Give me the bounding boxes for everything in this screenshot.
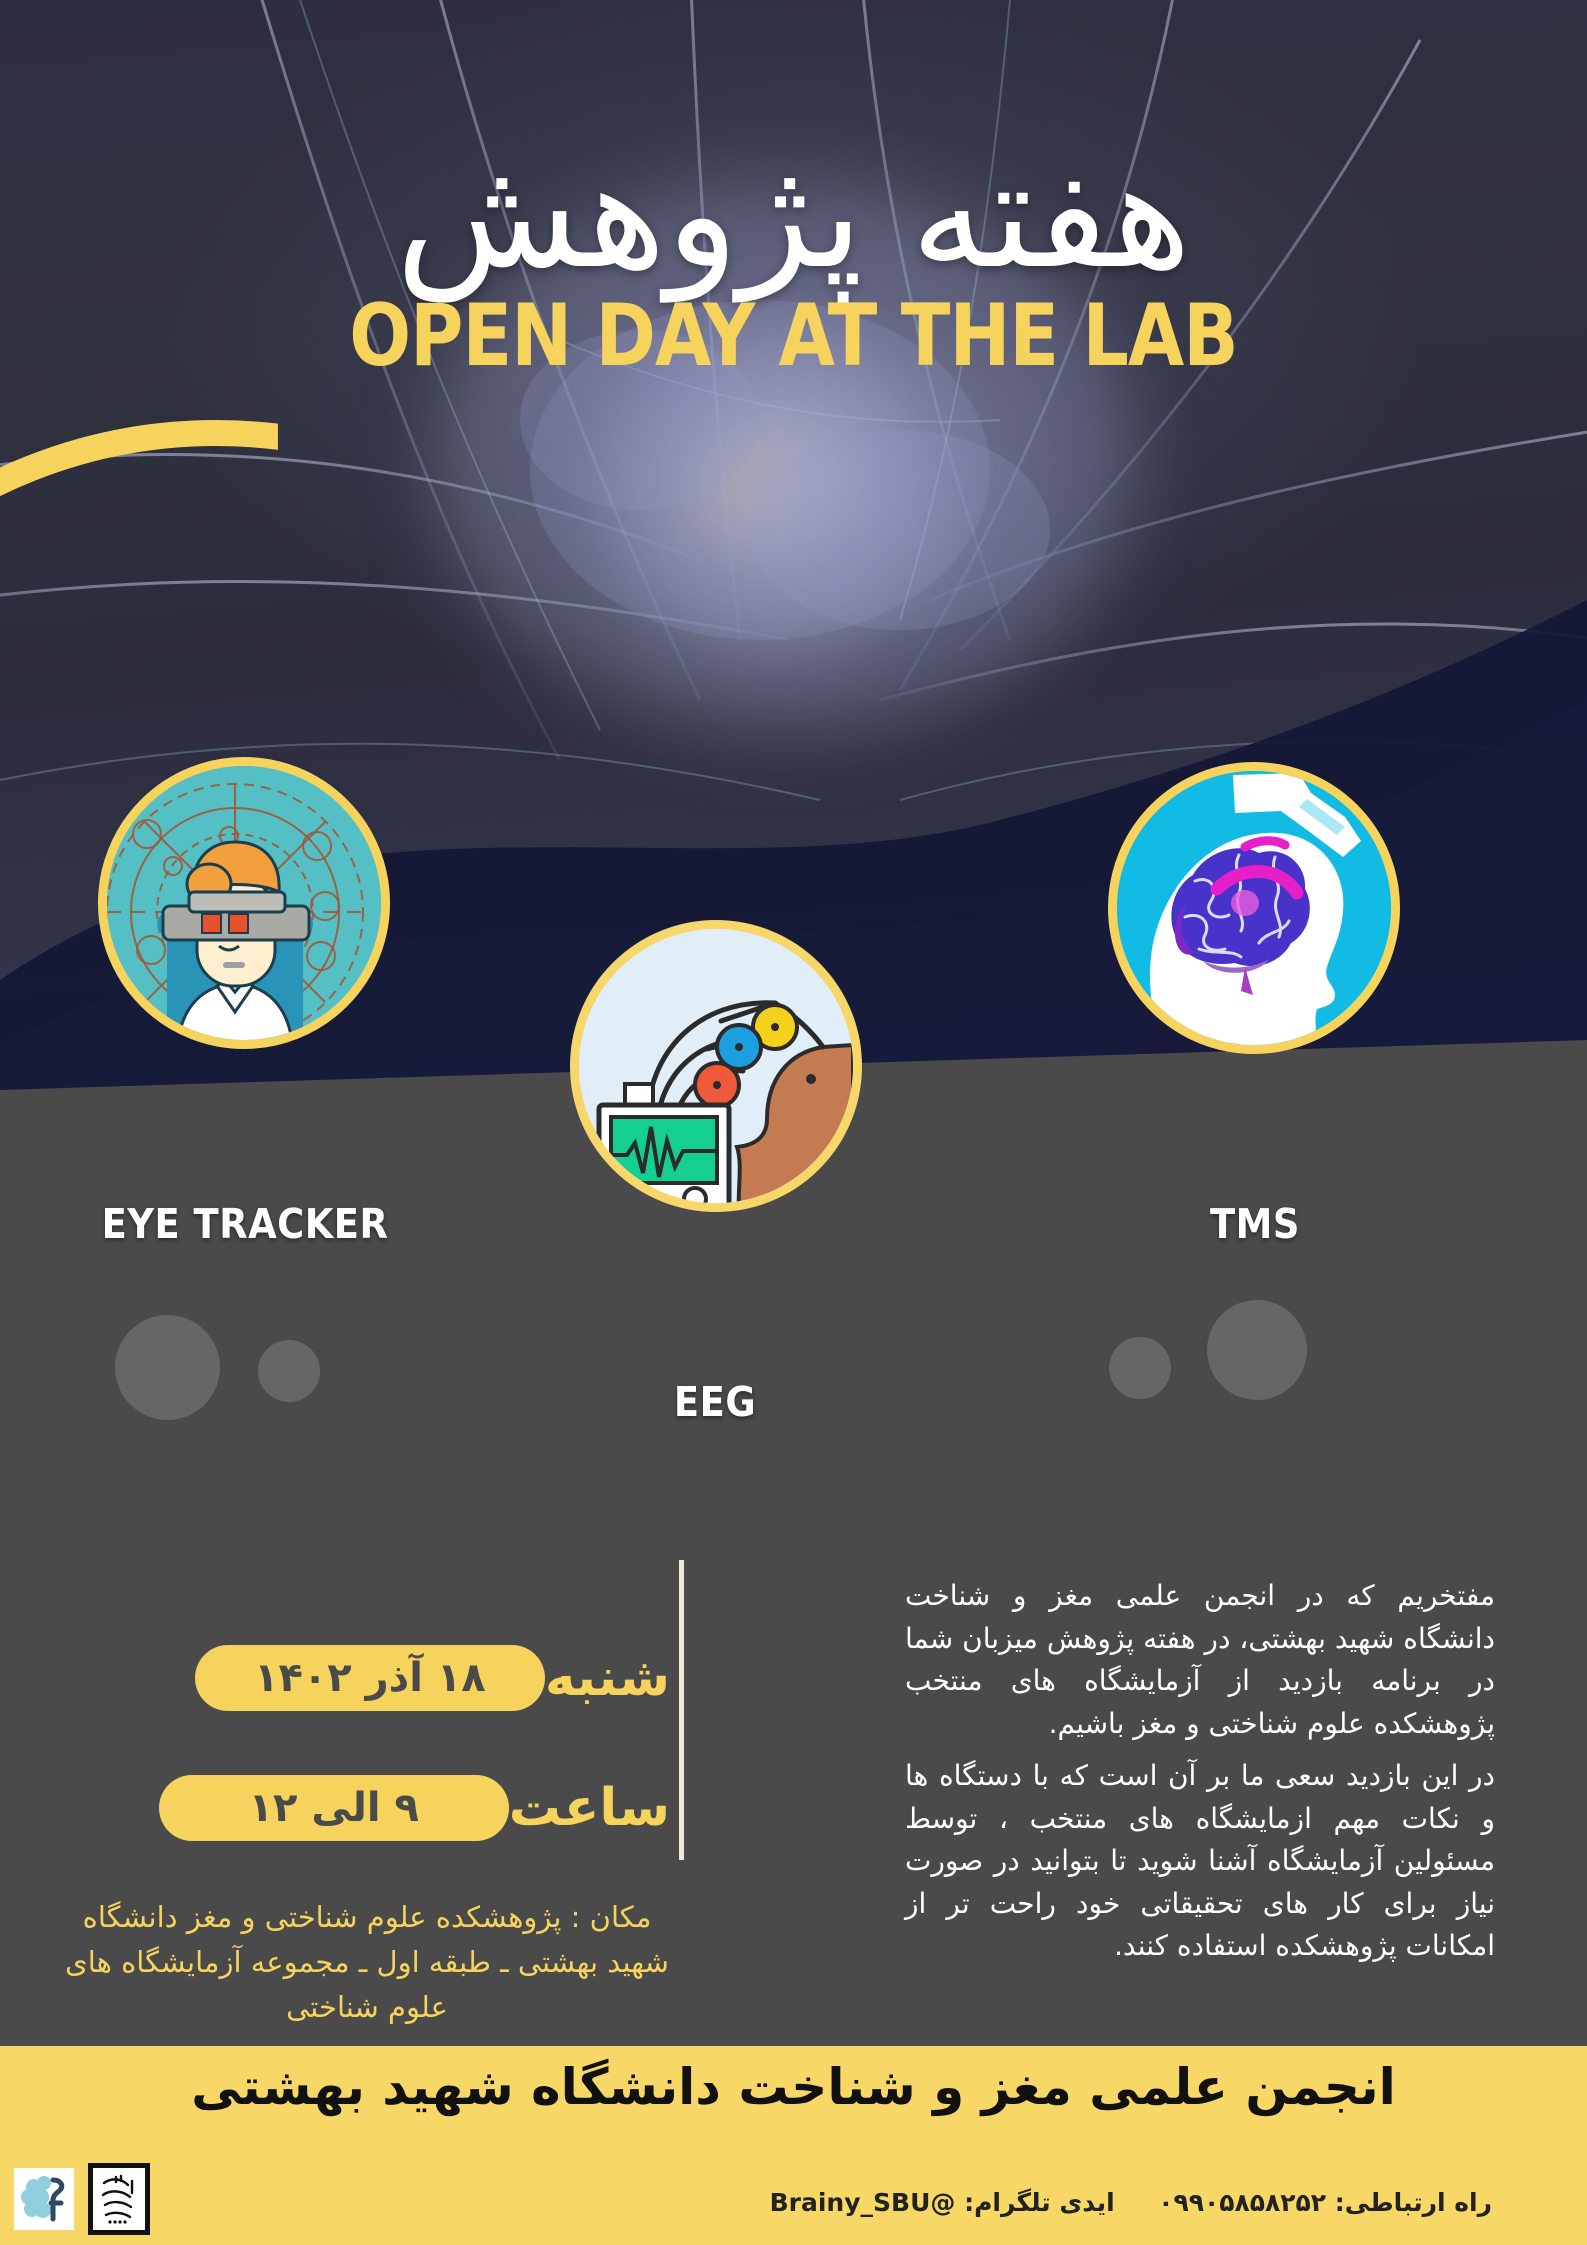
day-label: شنبه xyxy=(545,1648,670,1708)
description-paragraph-2: در این بازدید سعی ما بر آن است که با دست… xyxy=(905,1755,1495,1968)
time-row: ساعت ۹ الی ۱۲ xyxy=(80,1775,670,1841)
telegram-handle[interactable]: @Brainy_SBU xyxy=(770,2188,956,2217)
shahid-beheshti-university-logo-icon xyxy=(88,2163,150,2235)
page-title-en: OPEN DAY AT THE LAB xyxy=(48,286,1540,386)
date-row: شنبه ۱۸ آذر ۱۴۰۲ xyxy=(80,1645,670,1711)
venue-text: مکان : پژوهشکده علوم شناختی و مغز دانشگا… xyxy=(62,1895,672,2030)
contact-label: راه ارتباطی: xyxy=(1335,2188,1492,2217)
tms-icon xyxy=(1108,771,1391,1054)
eeg-label: EEG xyxy=(555,1378,875,1426)
eeg-icon xyxy=(570,929,853,1212)
decorative-grey-circle xyxy=(1109,1337,1171,1399)
eye-tracker-icon xyxy=(98,766,381,1049)
description-paragraph-1: مفتخریم که در انجمن علمی مغز و شناخت دان… xyxy=(905,1575,1495,1745)
footer-logos xyxy=(14,2163,150,2235)
time-value: ۹ الی ۱۲ xyxy=(159,1775,509,1841)
page-title-fa: هفته پژوهش xyxy=(0,129,1587,302)
vertical-divider xyxy=(679,1560,684,1860)
decorative-grey-circle xyxy=(115,1315,220,1420)
organization-name: انجمن علمی مغز و شناخت دانشگاه شهید بهشت… xyxy=(0,2058,1587,2116)
eye-tracker-label: EYE TRACKER xyxy=(75,1200,415,1248)
eye-tracker-circle[interactable] xyxy=(98,757,390,1049)
telegram-label: ایدی تلگرام: xyxy=(964,2188,1115,2217)
eeg-circle[interactable] xyxy=(570,920,862,1212)
decorative-grey-circle xyxy=(258,1340,320,1402)
decorative-grey-circle xyxy=(1207,1300,1307,1400)
time-label: ساعت xyxy=(509,1778,670,1838)
date-value: ۱۸ آذر ۱۴۰۲ xyxy=(195,1645,545,1711)
contact-phone: ۰۹۹۰۵۸۵۸۲۵۲ xyxy=(1158,2188,1326,2217)
tms-label: TMS xyxy=(1125,1200,1385,1248)
tms-circle[interactable] xyxy=(1108,762,1400,1054)
brain-association-logo-icon xyxy=(14,2168,74,2230)
description-block: مفتخریم که در انجمن علمی مغز و شناخت دان… xyxy=(905,1575,1495,1978)
contact-line: راه ارتباطی: ۰۹۹۰۵۸۵۸۲۵۲ ایدی تلگرام: @B… xyxy=(770,2188,1492,2217)
